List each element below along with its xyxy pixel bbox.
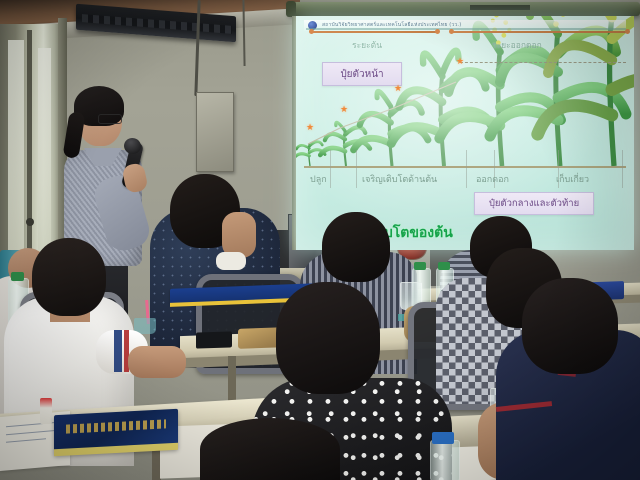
- star-marker-icon: ★: [394, 84, 402, 93]
- arrow-endpoint-icon: [449, 29, 454, 34]
- star-marker-icon: ★: [456, 57, 464, 66]
- audience-member-head: [522, 278, 618, 374]
- audience-member-head: [200, 418, 340, 480]
- stage-arrow-right: [452, 31, 628, 33]
- arrow-endpoint-icon: [435, 29, 440, 34]
- stage-arrow-left: [312, 31, 438, 33]
- sleeve-stripe: [114, 330, 122, 372]
- glue-stick[interactable]: [40, 398, 52, 424]
- stage-band-label-flowering: ระยะออกดอก: [492, 38, 542, 52]
- stage-column-divider: [356, 150, 357, 188]
- window-handle[interactable]: [26, 218, 34, 226]
- stage-column-divider: [622, 150, 623, 188]
- shirt-cuff: [216, 252, 246, 270]
- soil-ground-line: [304, 166, 626, 168]
- arrow-endpoint-icon: [309, 29, 314, 34]
- bottle-cap: [11, 272, 24, 281]
- star-marker-icon: ★: [306, 123, 314, 132]
- arrow-endpoint-icon: [625, 29, 630, 34]
- star-marker-icon: ★: [340, 105, 348, 114]
- roller-shadow: [470, 5, 530, 10]
- callout-mid-end-fertilizer: ปุ๋ยตัวกลางและตัวท้าย: [474, 192, 594, 215]
- max-height-dashed-line: [460, 62, 626, 63]
- water-bottle[interactable]: [430, 440, 460, 480]
- stage-label-vegetative-growth: เจริญเติบโตด้านต้น: [362, 172, 437, 186]
- stage-label-flowering: ออกดอก: [476, 172, 509, 186]
- bottle-cap-blue: [432, 432, 454, 444]
- roller-end-cap: [286, 1, 296, 17]
- stage-label-planting: ปลูก: [310, 172, 327, 186]
- audience-member-head: [32, 238, 106, 316]
- callout-front-fertilizer: ปุ๋ยตัวหน้า: [322, 62, 402, 86]
- stage-label-harvest: เก็บเกี่ยว: [556, 172, 589, 186]
- stage-band-label-vegetative: ระยะต้น: [352, 38, 382, 52]
- slide-divider: [306, 28, 626, 30]
- eyeglasses-icon: [98, 114, 122, 124]
- projector-screen-roller[interactable]: [288, 2, 640, 16]
- audience-member-head: [276, 282, 380, 394]
- mobile-phone[interactable]: [196, 331, 232, 348]
- audience-member-head: [322, 212, 390, 282]
- audience-member-arm: [128, 346, 186, 378]
- seminar-room-photo: สถาบันวิจัยวิทยาศาสตร์และเทคโนโลยีแห่งปร…: [0, 0, 640, 480]
- bottle-cap: [438, 262, 450, 270]
- stage-column-divider: [330, 150, 331, 188]
- stage-column-divider: [466, 150, 467, 188]
- fire-alarm-panel[interactable]: [196, 92, 234, 172]
- bottle-cap: [414, 262, 426, 270]
